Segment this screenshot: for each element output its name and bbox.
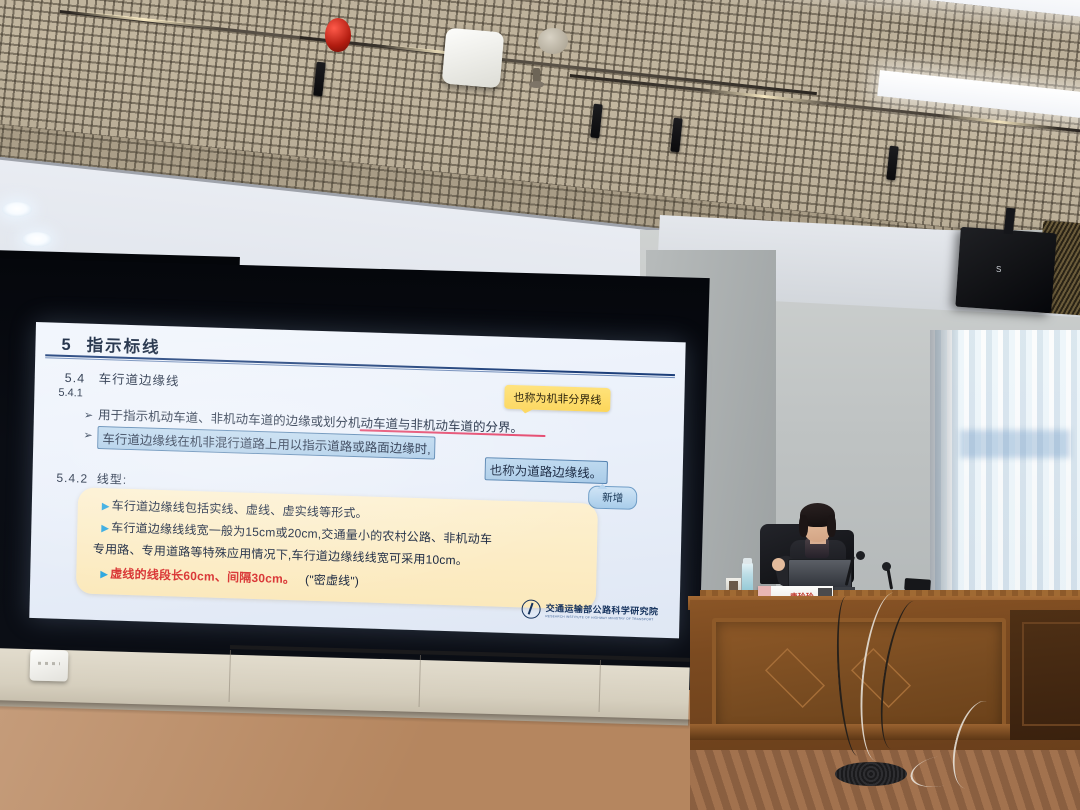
- wall-outlet-indicators: [38, 662, 60, 666]
- triangle-bullet-icon: ▶: [101, 523, 109, 534]
- window-daylight-glow: [960, 430, 1070, 458]
- fire-alarm-dome: [325, 18, 351, 52]
- arrow-bullet-icon: ➢: [84, 410, 93, 422]
- section-5-4-heading: 5.4 车行道边缘线: [65, 367, 180, 390]
- ceiling-sensor-disc: [538, 28, 568, 54]
- recessed-downlight: [2, 202, 32, 217]
- highlighted-sentence-line2: 也称为道路边缘线。: [485, 457, 608, 484]
- presentation-slide: 5指示标线 5.4 车行道边缘线 5.4.1 ➢用于指示机动车道、非机动车道的边…: [29, 322, 685, 638]
- triangle-bullet-icon: ▶: [100, 569, 108, 580]
- section-5-4-2-heading: 5.4.2 线型:: [56, 469, 127, 488]
- water-bottle-cap: [743, 558, 752, 564]
- coiled-cable-bundle: [835, 762, 907, 786]
- slide-title: 5指示标线: [61, 331, 161, 358]
- microphone-head: [882, 562, 891, 571]
- sprinkler-head: [533, 68, 540, 84]
- microphone-head: [856, 551, 865, 560]
- speaker-brand-badge: S: [996, 265, 1002, 274]
- arrow-bullet-icon: ➢: [83, 429, 93, 442]
- water-bottle: [742, 562, 753, 593]
- presenter-hair-right: [827, 515, 836, 537]
- wall-outlet-box[interactable]: [30, 649, 69, 681]
- slide-title-text: 指示标线: [86, 337, 160, 357]
- presenter-hand: [772, 558, 785, 571]
- triangle-bullet-icon: ▶: [102, 501, 110, 512]
- section-5-4-text: 车行道边缘线: [98, 372, 179, 389]
- blue-callout-badge: 新增: [588, 485, 637, 510]
- presenter-hair-left: [799, 515, 808, 537]
- lectern-right-panel: [1022, 622, 1080, 726]
- recessed-downlight: [22, 232, 52, 247]
- box-bullet-3-tail-text: ("密虚线"): [305, 573, 359, 589]
- section-5-4-number: 5.4: [65, 371, 86, 386]
- wall-speaker: [955, 227, 1056, 314]
- lectern-diamond-motif: [765, 648, 825, 708]
- institute-logo: 交通运输部公路科学研究院 RESEARCH INSTITUTE OF HIGHW…: [521, 599, 658, 622]
- slide-title-number: 5: [61, 336, 73, 354]
- section-5-4-1-number: 5.4.1: [58, 387, 83, 400]
- yellow-callout-note: 也称为机非分界线: [504, 385, 610, 412]
- section-5-4-2-text: 线型:: [97, 472, 128, 487]
- institute-logo-mark: [521, 599, 540, 619]
- wifi-access-point: [442, 28, 505, 89]
- section-5-4-2-number: 5.4.2: [56, 471, 88, 486]
- lecture-room-photo: S 5指示标线 5.4 车行道边缘线 5.4.1 ➢用于指示机动车道、非机动车道…: [0, 0, 1080, 810]
